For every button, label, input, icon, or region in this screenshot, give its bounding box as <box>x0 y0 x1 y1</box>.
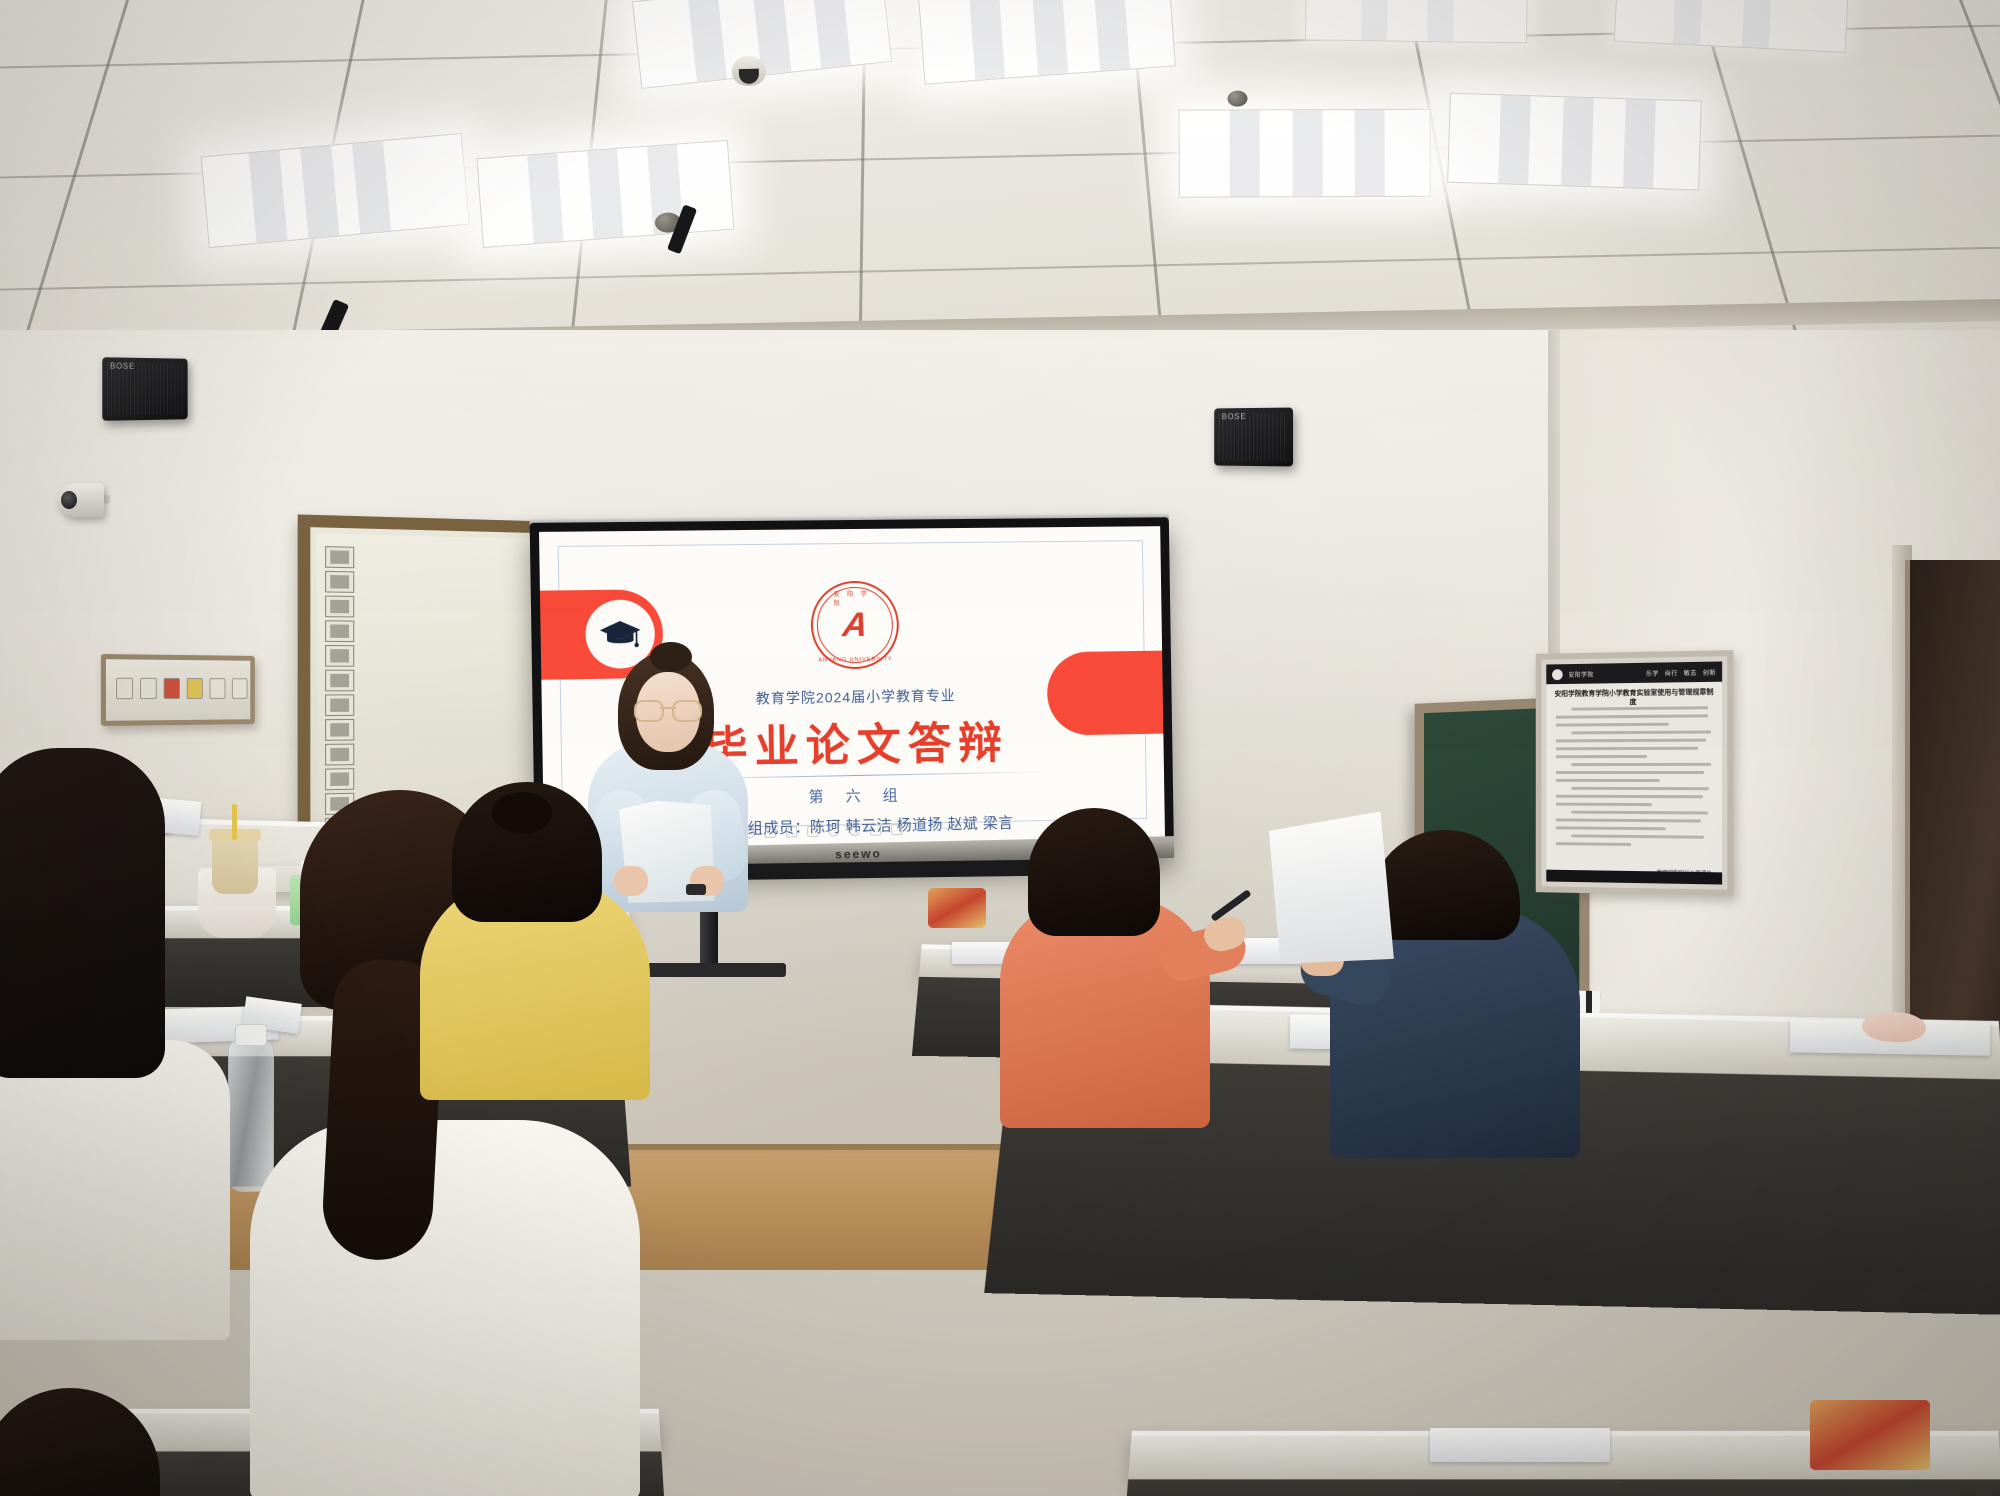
pen-icon <box>325 694 354 716</box>
poster-header-tab-3: 敏志 <box>1684 667 1697 676</box>
student-3-hair-tie <box>492 792 552 834</box>
control-switch[interactable] <box>232 678 248 699</box>
logo-arc-top: 安 阳 学 院 <box>833 589 875 608</box>
poster-header: 安阳学院 乐学 尚行 敏志 创新 <box>1546 661 1722 684</box>
ceiling-light <box>1305 0 1528 43</box>
display-brand: seewo <box>835 846 882 861</box>
shape-icon[interactable] <box>828 825 839 836</box>
presenter-hair-bun <box>650 642 692 672</box>
export-icon <box>325 670 354 692</box>
poster-title: 安阳学院教育学院小学教育实验室使用与管理规章制度 <box>1552 688 1716 708</box>
page-icon <box>325 596 354 618</box>
wall-regulation-poster: 安阳学院 乐学 尚行 敏志 创新 安阳学院教育学院小学教育实验室使用与管理规章制… <box>1536 650 1734 896</box>
logo-mark: A <box>841 608 870 642</box>
ceiling-light <box>476 140 734 248</box>
undo-icon <box>325 768 354 790</box>
examiner-2-thesis-papers <box>1263 811 1398 972</box>
toolbar-rule <box>912 827 972 829</box>
university-logo-icon: 安 阳 学 院 A ANYANG UNIVERSITY <box>810 581 899 670</box>
pen-icon[interactable] <box>807 825 818 836</box>
new-page-icon <box>325 620 354 642</box>
presenter-hand-left <box>614 866 648 896</box>
ceiling-light <box>1179 109 1431 198</box>
wall-control-panel[interactable] <box>101 654 255 726</box>
eyeglasses-icon <box>634 700 702 718</box>
control-switch[interactable] <box>187 678 203 699</box>
dome-camera-icon <box>732 56 767 87</box>
university-logo-icon <box>1552 669 1563 680</box>
student-4-hair <box>0 1388 160 1496</box>
control-switch[interactable] <box>140 678 157 699</box>
cursor-icon[interactable] <box>786 826 797 837</box>
snack-package <box>928 888 986 928</box>
import-icon <box>325 645 354 667</box>
poster-header-tab-4: 创新 <box>1703 667 1716 676</box>
student-1-torso <box>0 1040 230 1340</box>
speaker-icon: BOSE <box>102 357 187 421</box>
speaker-icon: BOSE <box>1214 408 1293 467</box>
control-switch[interactable] <box>209 678 225 699</box>
circle-icon[interactable] <box>849 824 860 835</box>
student-1-hair <box>0 748 165 1078</box>
grid-icon[interactable] <box>765 826 776 837</box>
poster-header-tab-1: 乐学 <box>1646 668 1659 677</box>
examiner-1-hair <box>1028 808 1160 936</box>
poster-body <box>1556 706 1714 862</box>
hand-icon <box>325 546 354 568</box>
poster-header-tab-2: 尚行 <box>1665 668 1678 677</box>
save-icon <box>325 571 354 593</box>
frame-icon[interactable] <box>870 824 881 835</box>
capture-icon[interactable] <box>891 824 902 835</box>
ceiling-light <box>1447 93 1702 191</box>
highlighter-icon <box>325 719 354 741</box>
student-2-torso <box>250 1120 640 1496</box>
snack-package <box>1810 1400 1930 1470</box>
security-camera-icon <box>58 483 104 517</box>
poster-header-brand: 安阳学院 <box>1568 669 1593 678</box>
milk-tea-cup <box>212 838 258 894</box>
control-switch[interactable] <box>164 678 180 699</box>
logo-arc-bottom: ANYANG UNIVERSITY <box>818 656 892 663</box>
control-switch[interactable] <box>116 678 133 699</box>
wristwatch-icon <box>686 884 706 895</box>
text-icon <box>325 744 354 766</box>
classroom-photo: BOSE BOSE <box>0 0 2000 1496</box>
plastic-water-bottle <box>228 1040 274 1192</box>
stacked-thesis-papers <box>1430 1428 1610 1462</box>
display-stand-foot <box>636 963 786 977</box>
